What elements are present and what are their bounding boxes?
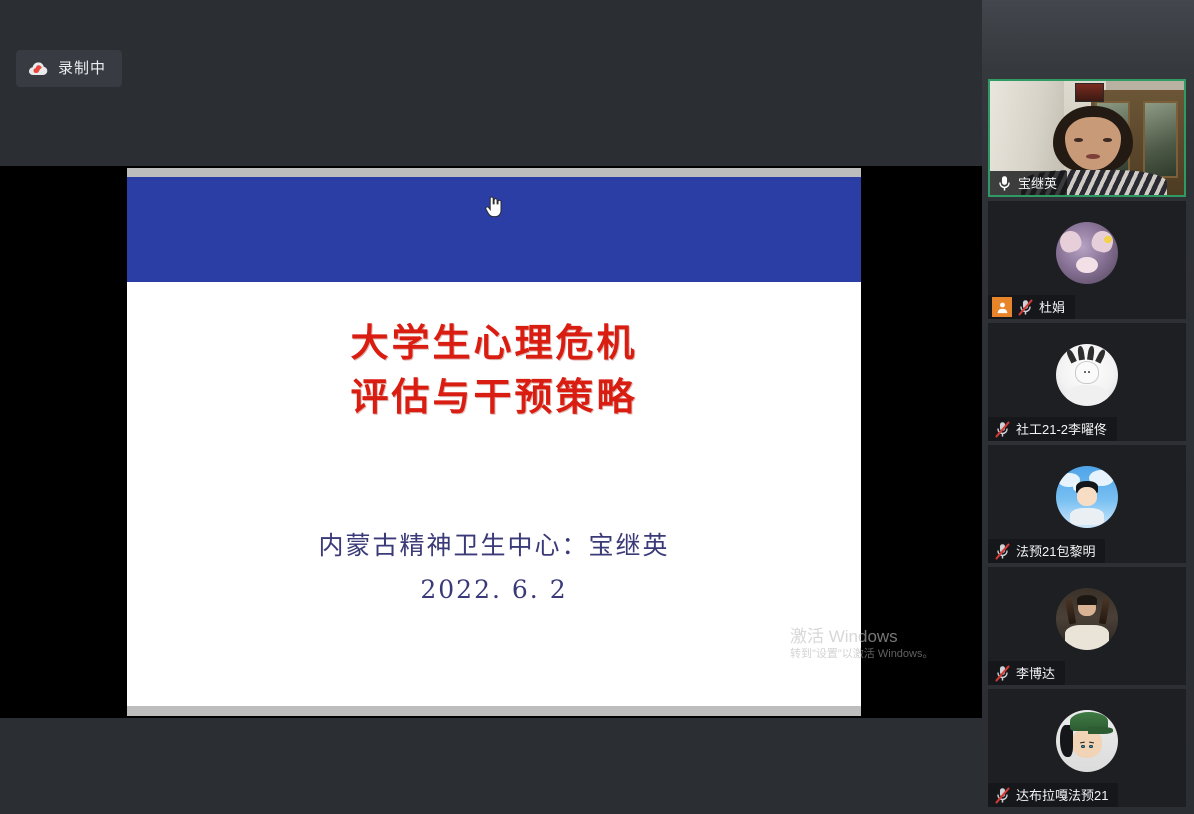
participant-tile[interactable]: 达布拉嘎法预21	[988, 689, 1186, 807]
participant-nameplate: 李博达	[988, 661, 1065, 685]
shared-slide-frame[interactable]: 大学生心理危机 评估与干预策略 内蒙古精神卫生中心：宝继英 2022. 6. 2	[127, 168, 861, 716]
participant-filmstrip[interactable]: 宝继英	[982, 0, 1194, 814]
participant-name: 杜娟	[1039, 301, 1065, 314]
microphone-muted-icon	[995, 421, 1010, 438]
participant-name: 李博达	[1016, 667, 1055, 680]
participant-nameplate: 社工21-2李曜佟	[988, 417, 1117, 441]
host-person-icon	[992, 297, 1012, 317]
participant-nameplate: 宝继英	[990, 171, 1067, 195]
microphone-icon	[997, 175, 1012, 192]
slide-title: 大学生心理危机 评估与干预策略	[127, 317, 861, 425]
participant-name: 宝继英	[1018, 177, 1057, 190]
avatar	[1056, 222, 1118, 284]
participant-tile[interactable]: 宝继英	[988, 79, 1186, 197]
participant-tile[interactable]: 杜娟	[988, 201, 1186, 319]
participant-name: 法预21包黎明	[1016, 545, 1095, 558]
slide-presenter: 内蒙古精神卫生中心：宝继英	[127, 533, 861, 558]
microphone-muted-icon	[995, 665, 1010, 682]
participant-tile[interactable]: 社工21-2李曜佟	[988, 323, 1186, 441]
microphone-muted-icon	[995, 787, 1010, 804]
participant-nameplate: 达布拉嘎法预21	[988, 783, 1118, 807]
slide-title-line1: 大学生心理危机	[127, 317, 861, 371]
slide-header-band	[127, 177, 861, 282]
avatar	[1056, 466, 1118, 528]
participant-nameplate: 杜娟	[988, 295, 1075, 319]
recording-label: 录制中	[58, 61, 106, 76]
shared-screen-stage[interactable]: 录制中 大学生心理危机 评估与干预策略 内蒙古精神卫生中心：宝继英 2022. …	[0, 0, 982, 814]
participant-nameplate: 法预21包黎明	[988, 539, 1105, 563]
microphone-muted-icon	[995, 543, 1010, 560]
participant-tile[interactable]: 李博达	[988, 567, 1186, 685]
hand-pointer-cursor	[483, 195, 503, 219]
avatar	[1056, 710, 1118, 772]
slide-date: 2022. 6. 2	[127, 577, 861, 602]
slide-title-line2: 评估与干预策略	[127, 371, 861, 425]
recording-indicator[interactable]: 录制中	[16, 50, 122, 87]
participant-name: 达布拉嘎法预21	[1016, 789, 1108, 802]
cloud-recording-icon	[28, 62, 48, 76]
participant-name: 社工21-2李曜佟	[1016, 423, 1107, 436]
avatar	[1056, 344, 1118, 406]
avatar	[1056, 588, 1118, 650]
meeting-window: 录制中 大学生心理危机 评估与干预策略 内蒙古精神卫生中心：宝继英 2022. …	[0, 0, 1194, 814]
participant-tile[interactable]: 法预21包黎明	[988, 445, 1186, 563]
presentation-slide: 大学生心理危机 评估与干预策略 内蒙古精神卫生中心：宝继英 2022. 6. 2	[127, 177, 861, 706]
microphone-muted-icon	[1018, 299, 1033, 316]
